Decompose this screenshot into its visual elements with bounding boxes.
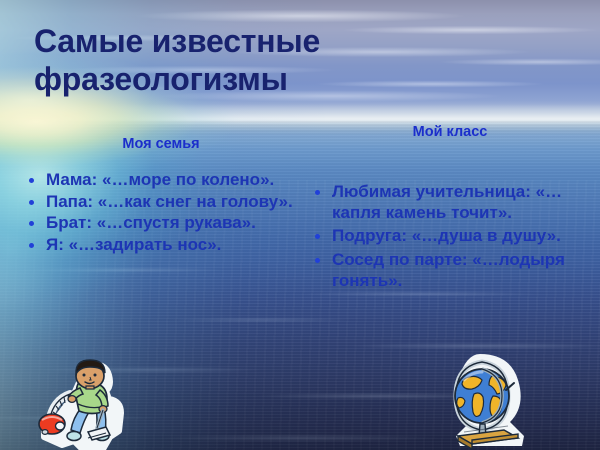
list-item: Я: «…задирать нос». xyxy=(22,235,294,256)
bullet-list-my-family: Мама: «…море по колено». Папа: «…как сне… xyxy=(22,170,294,256)
boy-vacuuming-icon xyxy=(36,358,140,450)
column-my-family: Моя семья Мама: «…море по колено». Папа:… xyxy=(22,136,294,257)
column-heading-my-family: Моя семья xyxy=(22,136,294,152)
list-item: Любимая учительница: «…капля камень точи… xyxy=(308,182,588,223)
list-item: Сосед по парте: «…лодыря гонять». xyxy=(308,250,588,291)
column-heading-my-class: Мой класс xyxy=(308,124,588,140)
globe-on-books-icon xyxy=(430,352,542,450)
list-item: Мама: «…море по колено». xyxy=(22,170,294,191)
bullet-list-my-class: Любимая учительница: «…капля камень точи… xyxy=(308,182,588,292)
slide-title: Самые известные фразеологизмы xyxy=(34,22,434,99)
column-my-class: Мой класс Любимая учительница: «…капля к… xyxy=(308,124,588,295)
list-item: Брат: «…спустя рукава». xyxy=(22,213,294,234)
presentation-slide: Самые известные фразеологизмы Моя семья … xyxy=(0,0,600,450)
list-item: Папа: «…как снег на голову». xyxy=(22,192,294,213)
list-item: Подруга: «…душа в душу». xyxy=(308,226,588,247)
